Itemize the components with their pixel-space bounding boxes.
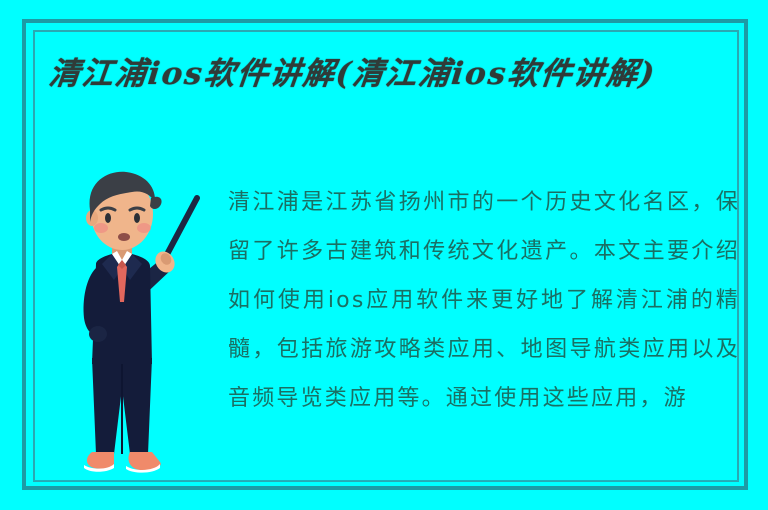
article-title: 清江浦ios软件讲解(清江浦ios软件讲解) <box>47 52 722 96</box>
pointer-stick-icon <box>164 198 197 260</box>
article-body: 清江浦是江苏省扬州市的一个历史文化名区，保留了许多古建筑和传统文化遗产。本文主要… <box>228 178 740 423</box>
illustration-businessman-with-pointer <box>56 168 224 486</box>
ground-line <box>33 480 739 481</box>
article-card: 清江浦ios软件讲解(清江浦ios软件讲解) <box>0 0 768 510</box>
